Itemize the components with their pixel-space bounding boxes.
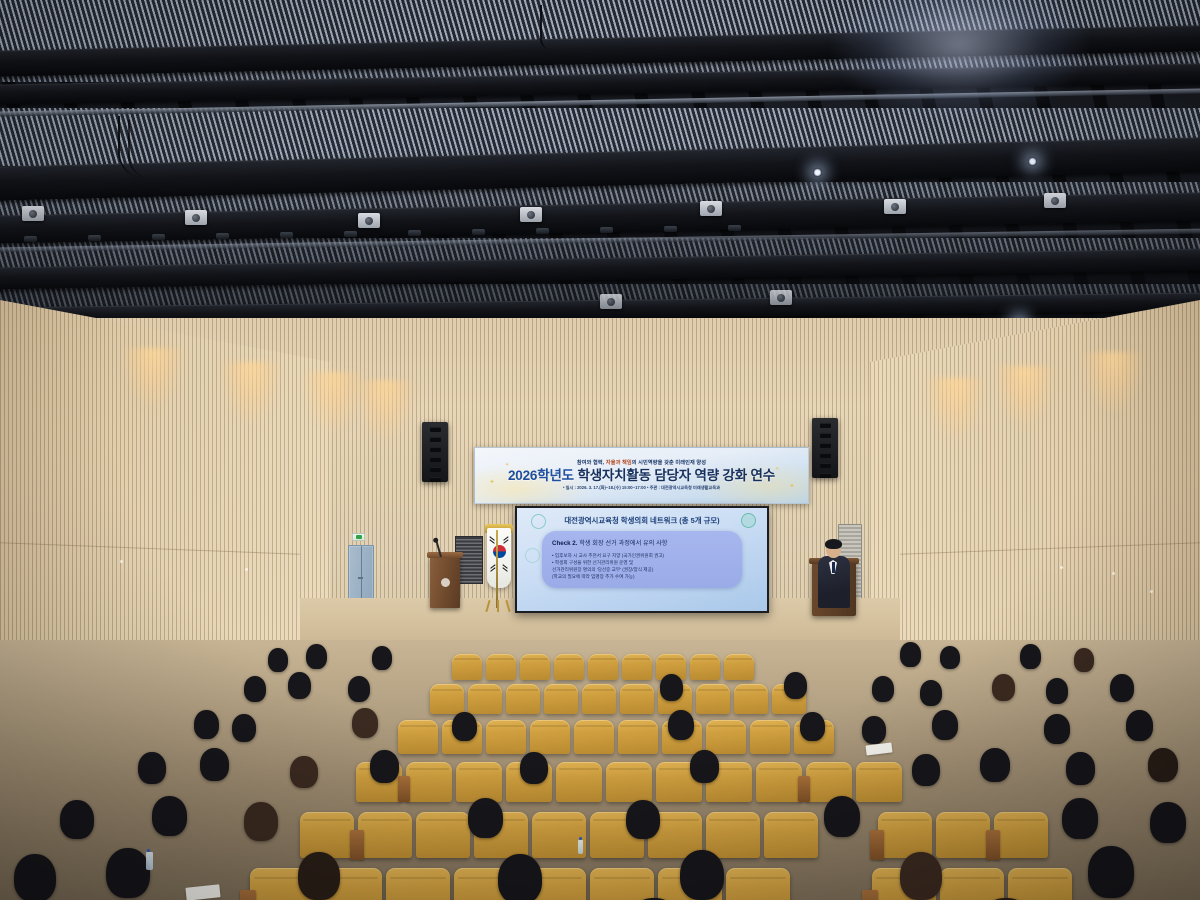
audience-head: [932, 710, 958, 740]
audience-head: [352, 708, 378, 738]
ceiling-connector: [664, 226, 677, 232]
seat[interactable]: [530, 720, 570, 754]
banner-meta: • 일시 : 2026. 3. 17.(화)~18.(수) 15:00~17:0…: [563, 486, 720, 490]
seat[interactable]: [386, 868, 450, 900]
sparkle-icon: ✦: [505, 462, 509, 468]
seat[interactable]: [620, 684, 654, 714]
seat[interactable]: [358, 812, 412, 858]
slide-bullet: • 입후보자 시 교사 추천서 요구 지양 (국가인권위원회 권고): [552, 552, 732, 559]
seat[interactable]: [520, 654, 550, 680]
ceiling-spotlight: [770, 290, 792, 305]
audience-head: [1088, 846, 1134, 898]
audience-head: [244, 676, 266, 702]
seat[interactable]: [1008, 868, 1072, 900]
ceiling-light-flare: [830, 0, 1090, 120]
seat-armrest: [798, 776, 810, 802]
exit-icon: [356, 535, 362, 539]
banner-title-main: 학생자치활동 담당자 역량 강화 연수: [577, 468, 775, 483]
ceiling-connector: [24, 236, 37, 242]
slide-decoration-ring: [525, 548, 540, 563]
audience-head: [680, 850, 724, 900]
flag-stand: [487, 600, 509, 612]
seat[interactable]: [690, 654, 720, 680]
audience-head: [306, 644, 327, 669]
audience-head: [1046, 678, 1068, 704]
banner-subtitle-part1: 참여와 협력,: [577, 460, 604, 466]
audience-head: [784, 672, 807, 699]
audience-head: [900, 852, 942, 900]
ceiling-spotlight: [700, 201, 722, 216]
slide-decoration-ring: [531, 514, 546, 529]
ceiling-connector: [536, 228, 549, 234]
audience-head: [152, 796, 187, 836]
banner-subtitle-part2: 의 시민역량을 갖춘 미래인재 양성: [632, 460, 706, 466]
seat[interactable]: [554, 654, 584, 680]
seat[interactable]: [734, 684, 768, 714]
seat-armrest: [240, 890, 256, 900]
wall-fixture-dot: [1150, 590, 1153, 593]
ceiling-connector: [728, 225, 741, 231]
seat-armrest: [870, 830, 884, 860]
seat[interactable]: [724, 654, 754, 680]
seat[interactable]: [544, 684, 578, 714]
flag-pole: [496, 530, 498, 608]
audience-head: [824, 796, 860, 837]
seat[interactable]: [706, 720, 746, 754]
auditorium-photo: ✦ ✦ ✦ ✦ 참여와 협력, 자율과 책임의 시민역량을 갖춘 미래인재 양성…: [0, 0, 1200, 900]
audience-head: [14, 854, 56, 900]
audience-head: [690, 750, 719, 783]
ceiling-spotlight: [358, 213, 380, 228]
presenter-hair: [825, 539, 842, 549]
seat[interactable]: [856, 762, 902, 802]
projection-screen: 대전광역시교육청 학생의회 네트워크 (총 5개 규모) Check 2. 학생…: [517, 508, 767, 611]
wall-fixture-dot: [1112, 572, 1115, 575]
ceiling-spotlight: [22, 206, 44, 221]
seat[interactable]: [456, 762, 502, 802]
slide-title: 대전광역시교육청 학생의회 네트워크 (총 5개 규모): [564, 515, 719, 526]
wall-wash-light: [206, 362, 296, 512]
banner-title-year: 2026학년도: [508, 468, 574, 483]
seat[interactable]: [756, 762, 802, 802]
event-banner: ✦ ✦ ✦ ✦ 참여와 협력, 자율과 책임의 시민역량을 갖춘 미래인재 양성…: [474, 447, 809, 504]
slide-check-heading: Check 2. 학생 회장 선거 과정에서 유의 사항: [552, 538, 732, 547]
audience-head: [862, 716, 886, 744]
audience-head: [348, 676, 370, 702]
sparkle-icon: ✦: [789, 482, 795, 490]
wall-wash-light: [340, 380, 430, 530]
seat[interactable]: [452, 654, 482, 680]
ceiling-connector: [472, 229, 485, 235]
seat[interactable]: [398, 720, 438, 754]
door-split: [361, 546, 362, 606]
slide-content-card: Check 2. 학생 회장 선거 과정에서 유의 사항 • 입후보자 시 교사…: [542, 531, 742, 588]
banner-title: 2026학년도 학생자치활동 담당자 역량 강화 연수: [508, 469, 775, 484]
seat[interactable]: [588, 654, 618, 680]
audience-head: [452, 712, 477, 741]
seat[interactable]: [506, 684, 540, 714]
audience-seating-area: [0, 640, 1200, 900]
audience-head: [872, 676, 894, 702]
audience-head: [106, 848, 150, 898]
audience-head: [668, 710, 694, 740]
audience-head: [1044, 714, 1070, 744]
water-bottle[interactable]: [146, 852, 153, 870]
audience-head: [660, 674, 683, 701]
audience-head: [244, 802, 278, 841]
ceiling-connector: [216, 233, 229, 239]
korean-flag: [487, 528, 511, 588]
audience-head: [1020, 644, 1041, 669]
ceiling-connector: [600, 227, 613, 233]
audience-head: [498, 854, 542, 900]
seat[interactable]: [936, 812, 990, 858]
audience-head: [200, 748, 229, 781]
ceiling-cable: [540, 5, 550, 49]
seat[interactable]: [618, 720, 658, 754]
wall-fixture-dot: [120, 560, 123, 563]
ceiling-connector: [408, 230, 421, 236]
audience-head: [940, 646, 960, 669]
audience-head: [1062, 798, 1098, 839]
ceiling-connector: [88, 235, 101, 241]
ceiling-spotlight: [520, 207, 542, 222]
seat[interactable]: [764, 812, 818, 858]
wall-wash-light: [980, 366, 1070, 516]
slide-bullet: (학교의 필요에 따라 임명장 추가 수여 가능): [552, 573, 732, 580]
seat[interactable]: [486, 720, 526, 754]
seat-armrest: [862, 890, 878, 900]
seat[interactable]: [750, 720, 790, 754]
ceiling-spotlight: [1044, 193, 1066, 208]
sparkle-icon: ✦: [775, 466, 779, 472]
ceiling-downlight: [813, 168, 822, 177]
audience-head: [372, 646, 392, 670]
seat-armrest: [986, 830, 1000, 860]
seat[interactable]: [706, 812, 760, 858]
audience-head: [912, 754, 940, 786]
seat[interactable]: [622, 654, 652, 680]
audience-head: [520, 752, 548, 784]
audience-head: [1126, 710, 1153, 741]
ceiling-truss-structure: [0, 0, 1200, 330]
seat[interactable]: [416, 812, 470, 858]
seat[interactable]: [468, 684, 502, 714]
water-bottle[interactable]: [578, 840, 583, 854]
audience-head: [1150, 802, 1186, 843]
ceiling-connector: [280, 232, 293, 238]
projection-screen-frame: 대전광역시교육청 학생의회 네트워크 (총 5개 규모) Check 2. 학생…: [515, 506, 769, 613]
seat[interactable]: [582, 684, 616, 714]
audience-head: [298, 852, 340, 900]
seat[interactable]: [696, 684, 730, 714]
seat[interactable]: [300, 812, 354, 858]
slide-bullet: 선거관리위원장 명의의 '당선증 교부' (권장/양식 제공): [552, 566, 732, 573]
seat[interactable]: [430, 684, 464, 714]
audience-head: [268, 648, 288, 672]
stage-speaker-left: [422, 422, 448, 482]
slide-decoration-ring: [741, 513, 756, 528]
audience-head: [900, 642, 921, 667]
taeguk-circle-icon: [493, 545, 506, 558]
audience-head: [800, 712, 825, 741]
seat-armrest: [350, 830, 364, 860]
seat[interactable]: [590, 868, 654, 900]
audience-head: [232, 714, 256, 742]
seat[interactable]: [556, 762, 602, 802]
audience-head: [60, 800, 94, 839]
audience-head: [626, 800, 660, 839]
seat[interactable]: [606, 762, 652, 802]
stage-speaker-right: [812, 418, 838, 478]
banner-subtitle-accent: 자율과 책임: [606, 460, 632, 466]
ceiling-spotlight: [185, 210, 207, 225]
presenter-tie: [832, 562, 835, 573]
wooden-lectern: [430, 556, 460, 608]
audience-head: [288, 672, 311, 699]
wall-fixture-dot: [1060, 566, 1063, 569]
exit-sign: [352, 533, 365, 541]
seat[interactable]: [994, 812, 1048, 858]
handout-paper: [185, 884, 220, 900]
ceiling-connector: [344, 231, 357, 237]
ceiling-spotlight: [600, 294, 622, 309]
slide-bullet: • 학생회 구성을 위한 선거관리위원 운영 및: [552, 559, 732, 566]
audience-head: [1110, 674, 1134, 702]
lectern-top: [427, 552, 463, 558]
audience-head: [980, 748, 1010, 782]
audience-head: [194, 710, 219, 739]
slide-check-text: 학생 회장 선거 과정에서 유의 사항: [579, 540, 667, 547]
ceiling-spotlight: [884, 199, 906, 214]
seat[interactable]: [878, 812, 932, 858]
slide-check-label: Check 2.: [552, 540, 577, 547]
audience-head: [290, 756, 318, 788]
audience-head: [468, 798, 503, 838]
wall-wash-light: [108, 348, 198, 498]
wall-wash-light: [1068, 352, 1158, 502]
seat[interactable]: [940, 868, 1004, 900]
audience-head: [370, 750, 399, 783]
seat-armrest: [398, 776, 410, 802]
audience-head: [920, 680, 942, 706]
seat[interactable]: [726, 868, 790, 900]
banner-subtitle: 참여와 협력, 자율과 책임의 시민역량을 갖춘 미래인재 양성: [577, 461, 706, 466]
seat[interactable]: [486, 654, 516, 680]
seat[interactable]: [574, 720, 614, 754]
audience-head: [992, 674, 1015, 701]
ceiling-downlight: [1028, 157, 1037, 166]
audience-head: [1066, 752, 1095, 785]
lectern-emblem: [441, 578, 450, 587]
wall-fixture-dot: [245, 568, 248, 571]
audience-head: [138, 752, 166, 784]
ceiling-connector: [152, 234, 165, 240]
seat[interactable]: [406, 762, 452, 802]
audience-head: [1148, 748, 1178, 782]
sparkle-icon: ✦: [489, 478, 495, 486]
door-handle[interactable]: [358, 577, 363, 579]
audience-head: [1074, 648, 1094, 672]
